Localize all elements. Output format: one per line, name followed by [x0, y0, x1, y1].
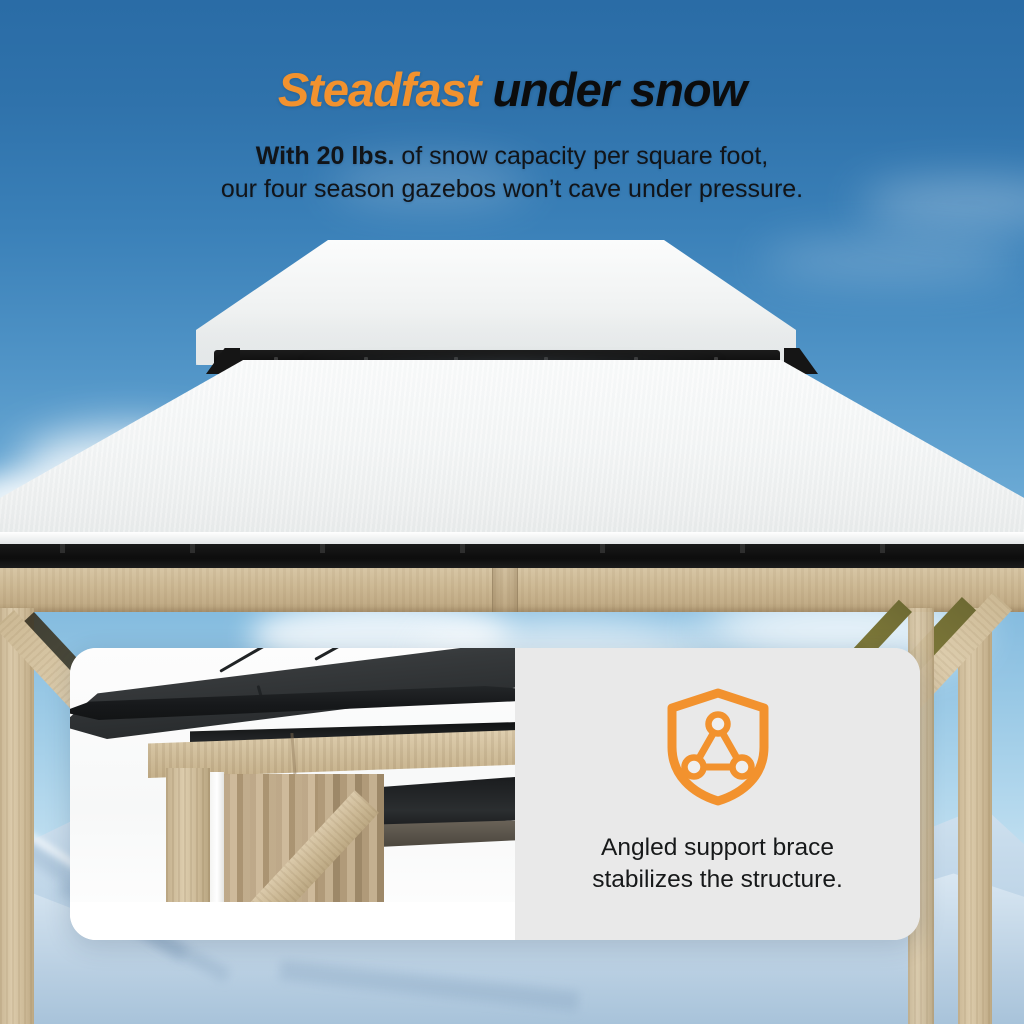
- feature-photo: [70, 648, 515, 940]
- feature-card: Angled support brace stabilizes the stru…: [70, 648, 920, 940]
- subheading: With 20 lbs. of snow capacity per square…: [0, 140, 1024, 206]
- feature-caption-line-1: Angled support brace: [592, 832, 843, 864]
- feature-caption: Angled support brace stabilizes the stru…: [592, 832, 843, 896]
- photo-lower-fade: [70, 902, 515, 940]
- beam-joint: [492, 568, 518, 612]
- subheading-bold-phrase: With 20 lbs.: [256, 142, 395, 170]
- headline-accent: Steadfast: [278, 63, 481, 116]
- page-title: Steadfast under snow: [0, 62, 1024, 117]
- gazebo-post-left: [0, 608, 34, 1024]
- subheading-line-1: With 20 lbs. of snow capacity per square…: [0, 140, 1024, 173]
- subheading-line-1-rest: of snow capacity per square foot,: [394, 142, 768, 170]
- cupola-snow-cap: [196, 240, 796, 365]
- gazebo-post-right: [958, 608, 992, 1024]
- feature-caption-line-2: stabilizes the structure.: [592, 864, 843, 896]
- feature-text-panel: Angled support brace stabilizes the stru…: [515, 648, 920, 940]
- roof-fascia: [0, 544, 1024, 570]
- main-roof-snow: [0, 360, 1024, 560]
- shield-truss-icon: [662, 687, 774, 812]
- subheading-line-2: our four season gazebos won’t cave under…: [0, 173, 1024, 206]
- headline-rest: under snow: [480, 63, 746, 116]
